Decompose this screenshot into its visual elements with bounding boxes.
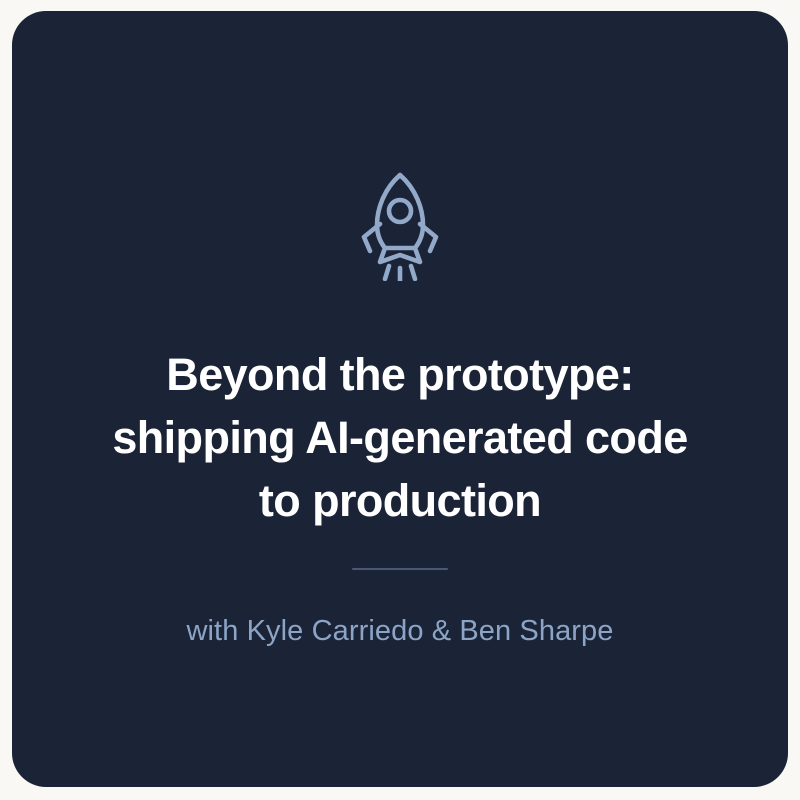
title-line-1: Beyond the prototype: <box>52 343 748 406</box>
speakers-subtitle: with Kyle Carriedo & Ben Sharpe <box>156 612 643 650</box>
talk-card: Beyond the prototype: shipping AI-genera… <box>12 11 788 787</box>
title-line-3: to production <box>52 469 748 532</box>
title-line-2: shipping AI-generated code <box>52 406 748 469</box>
rocket-icon <box>352 169 448 281</box>
talk-title: Beyond the prototype: shipping AI-genera… <box>12 343 788 532</box>
title-subtitle-divider <box>352 568 448 570</box>
page-background: Beyond the prototype: shipping AI-genera… <box>0 0 800 800</box>
